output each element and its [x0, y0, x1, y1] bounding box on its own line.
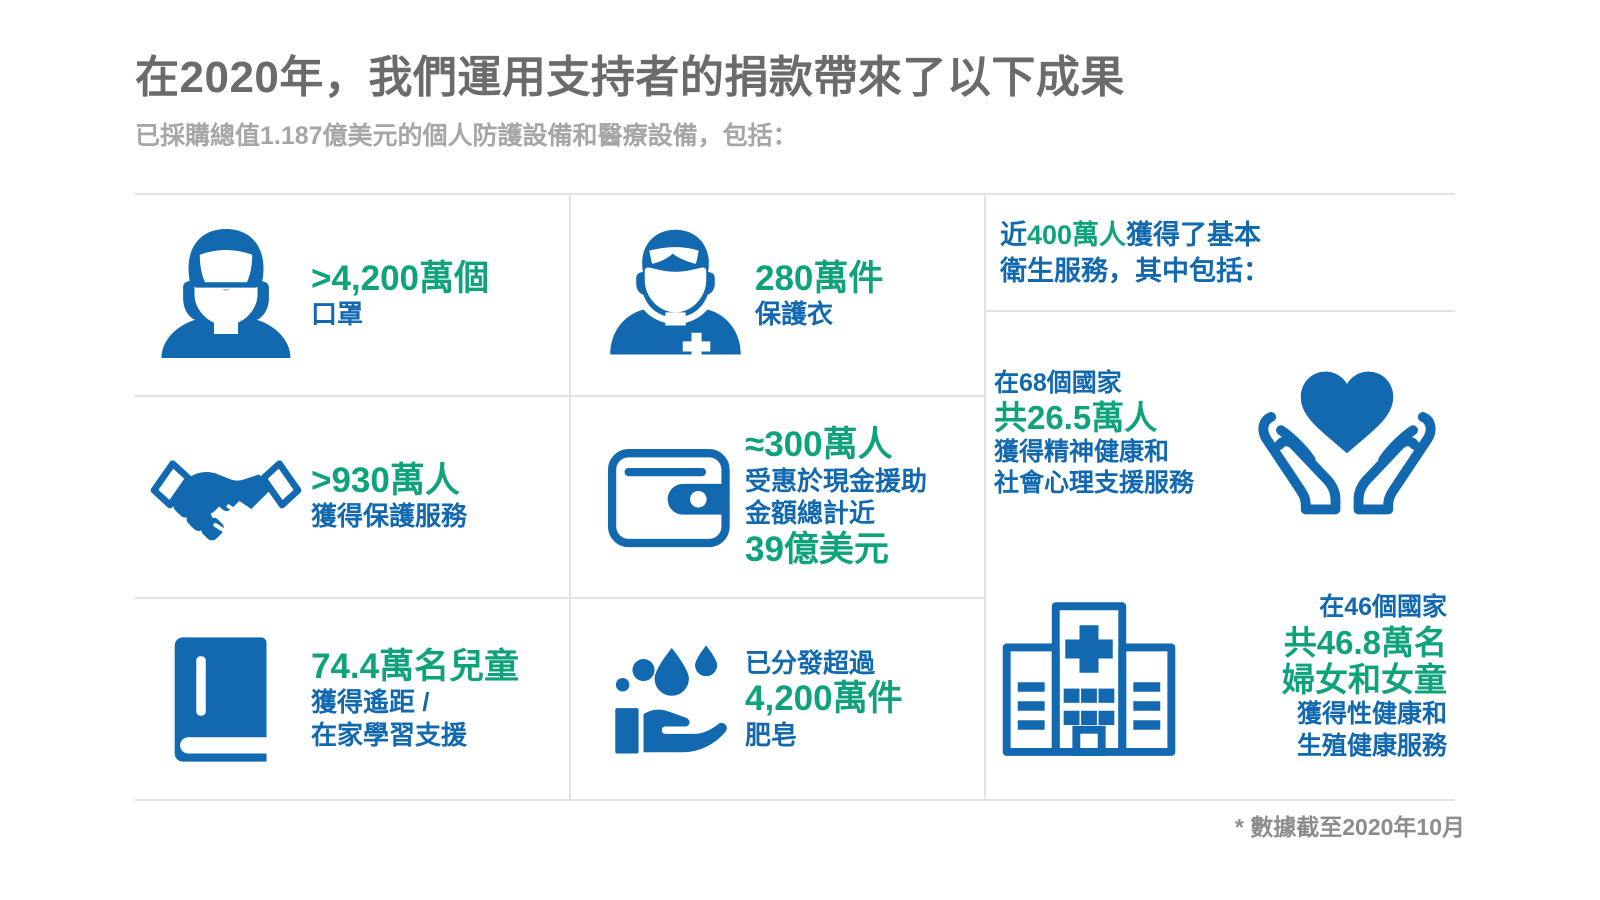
heading-line2: 衛生服務，其中包括：: [1000, 253, 1445, 289]
heading-prefix: 近: [1000, 220, 1027, 250]
header: 在2020年，我們運用支持者的捐款帶來了以下成果 已採購總值1.187億美元的個…: [135, 52, 1455, 151]
infographic-page: 在2020年，我們運用支持者的捐款帶來了以下成果 已採購總值1.187億美元的個…: [0, 0, 1600, 900]
book-icon: [141, 632, 311, 767]
stat-label-cash-line1: 受惠於現金援助: [745, 465, 978, 498]
stat-text-srh: 在46個國家 共46.8萬名 婦女和女童 獲得性健康和 生殖健康服務: [1282, 592, 1447, 762]
footnote: * 數據截至2020年10月: [1235, 808, 1465, 842]
stat-label-education-line1: 獲得遙距 /: [311, 686, 563, 719]
stat-label-protection: 獲得保護服務: [311, 500, 563, 533]
stat-value-cash: ≈300萬人: [745, 425, 978, 464]
heading-stat: 400萬人: [1027, 220, 1126, 250]
stat-label-mental-health-line2: 社會心理支援服務: [994, 468, 1194, 500]
stat-value-gowns: 280萬件: [755, 259, 978, 298]
stat-label-gowns: 保護衣: [755, 298, 978, 331]
stat-cell-mental-health: 在68個國家 共26.5萬人 獲得精神健康和 社會心理支援服務: [986, 312, 1455, 556]
stat-cell-cash: ≈300萬人 受惠於現金援助 金額總計近 39億美元: [571, 395, 984, 597]
stat-cell-protection: >930萬人 獲得保護服務: [135, 395, 569, 597]
stat-label-education-line2: 在家學習支援: [311, 719, 563, 752]
stat-cell-gowns: 280萬件 保護衣: [571, 195, 984, 395]
left-column: >4,200萬個 口罩: [135, 195, 569, 799]
stat-value-education: 74.4萬名兒童: [311, 647, 563, 686]
page-subtitle: 已採購總值1.187億美元的個人防護設備和醫療設備，包括：: [135, 121, 1455, 151]
stat-text-protection: >930萬人 獲得保護服務: [311, 461, 563, 533]
stat-value-protection: >930萬人: [311, 461, 563, 500]
wallet-icon: [595, 440, 745, 555]
stat-value-srh-line1: 共46.8萬名: [1282, 624, 1447, 662]
stat-label-soap-top: 已分發超過: [745, 647, 978, 680]
heart-in-hands-icon: [1247, 351, 1447, 516]
stat-label-mental-health-line1: 獲得精神健康和: [994, 437, 1194, 469]
stat-text-gowns: 280萬件 保護衣: [755, 259, 978, 331]
stat-value-soap: 4,200萬件: [745, 679, 978, 718]
stat-value-cash-amount: 39億美元: [745, 530, 978, 569]
handshake-icon: [141, 437, 311, 557]
handwashing-icon: [595, 637, 745, 762]
stat-label-masks: 口罩: [311, 298, 563, 331]
right-column: 近400萬人獲得了基本 衛生服務，其中包括： 在68個國家 共26.5萬人 獲得…: [986, 195, 1455, 799]
stat-label-cash-line2: 金額總計近: [745, 497, 978, 530]
stat-cell-srh: 在46個國家 共46.8萬名 婦女和女童 獲得性健康和 生殖健康服務: [986, 555, 1455, 799]
health-worker-icon: [595, 220, 755, 370]
right-column-heading: 近400萬人獲得了基本 衛生服務，其中包括：: [986, 195, 1455, 312]
masked-person-icon: [141, 220, 311, 370]
stats-grid: >4,200萬個 口罩: [135, 193, 1455, 801]
stat-text-masks: >4,200萬個 口罩: [311, 259, 563, 331]
stat-cell-education: 74.4萬名兒童 獲得遙距 / 在家學習支援: [135, 597, 569, 799]
stat-cell-soap: 已分發超過 4,200萬件 肥皂: [571, 597, 984, 799]
stat-countries-mental-health: 在68個國家: [994, 368, 1194, 400]
stat-label-srh-line2: 生殖健康服務: [1282, 731, 1447, 763]
stat-value-srh-line2: 婦女和女童: [1282, 661, 1447, 699]
stat-value-masks: >4,200萬個: [311, 259, 563, 298]
stat-label-srh-line1: 獲得性健康和: [1282, 699, 1447, 731]
stat-text-cash: ≈300萬人 受惠於現金援助 金額總計近 39億美元: [745, 425, 978, 568]
stat-cell-masks: >4,200萬個 口罩: [135, 195, 569, 395]
hospital-icon: [994, 590, 1184, 765]
stat-countries-srh: 在46個國家: [1282, 592, 1447, 624]
middle-column: 280萬件 保護衣 ≈300萬人 受惠於現金援助 金額總: [569, 195, 986, 799]
stat-text-mental-health: 在68個國家 共26.5萬人 獲得精神健康和 社會心理支援服務: [994, 368, 1194, 500]
heading-suffix: 獲得了基本: [1126, 220, 1261, 250]
stat-text-soap: 已分發超過 4,200萬件 肥皂: [745, 647, 978, 751]
stat-value-mental-health: 共26.5萬人: [994, 399, 1194, 437]
stat-text-education: 74.4萬名兒童 獲得遙距 / 在家學習支援: [311, 647, 563, 751]
page-title: 在2020年，我們運用支持者的捐款帶來了以下成果: [135, 52, 1455, 105]
stat-label-soap: 肥皂: [745, 719, 978, 752]
